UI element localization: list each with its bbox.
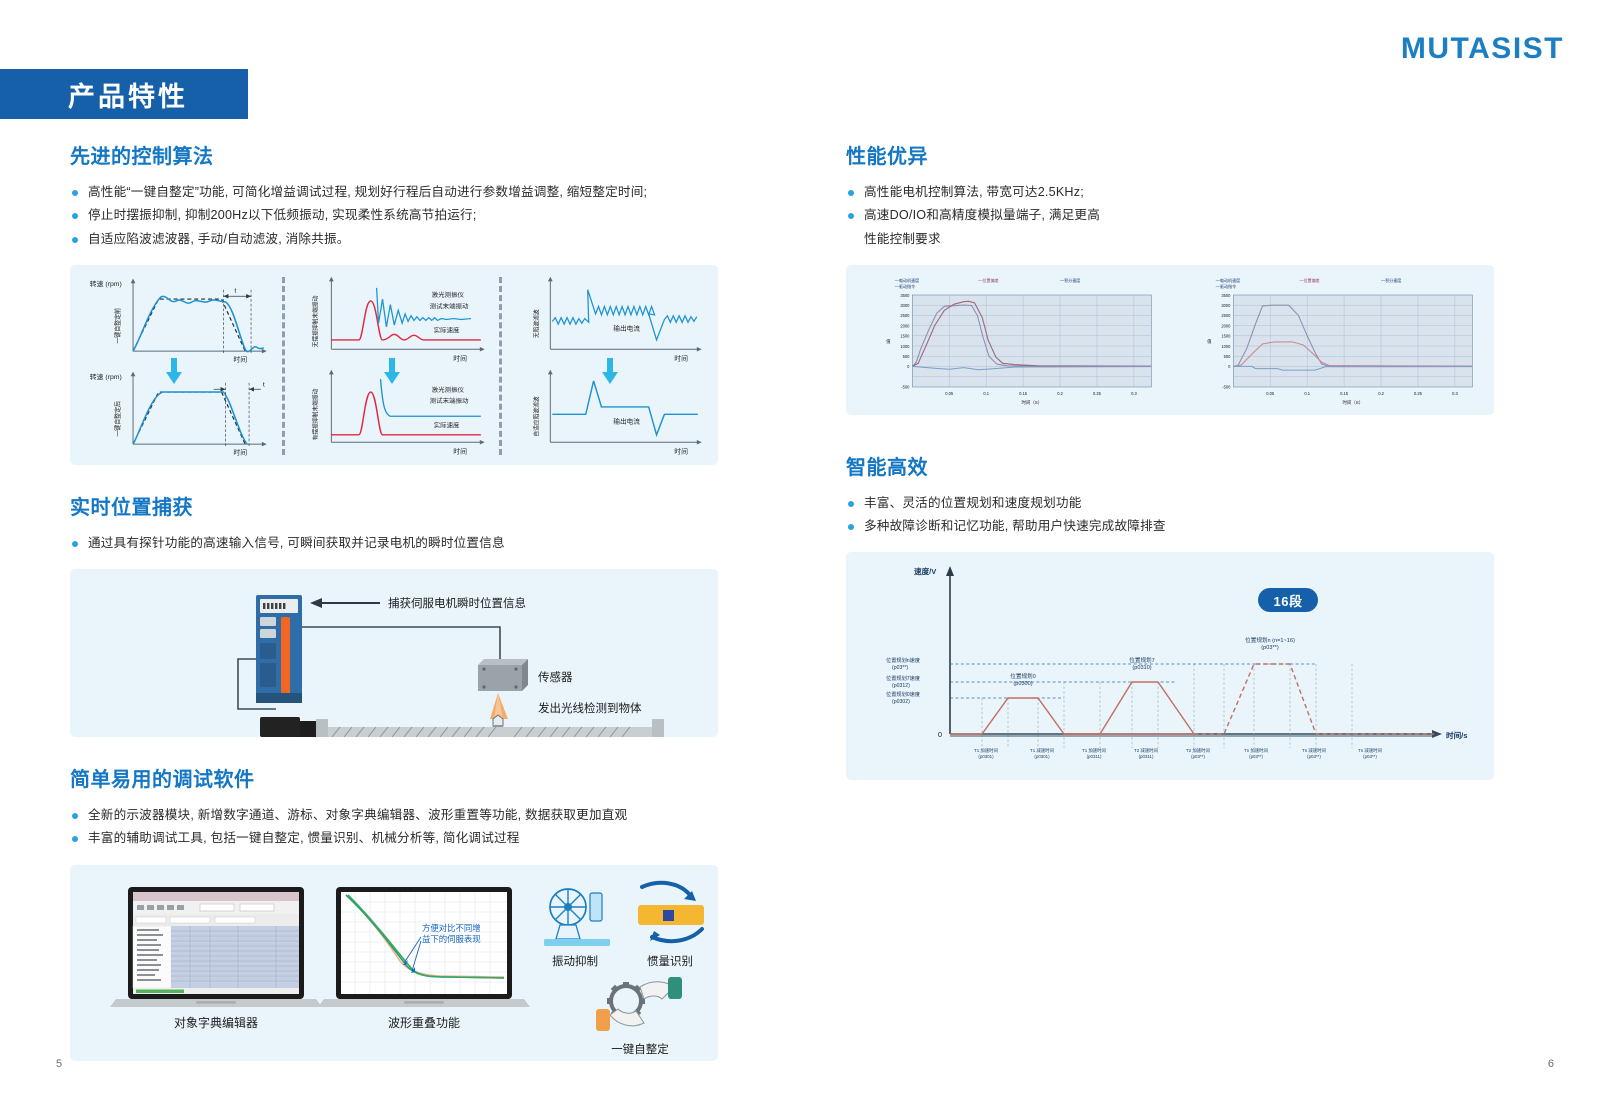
bullets-advanced-control-algorithm: 高性能“一键自整定”功能, 可简化增益调试过程, 规划好行程后自动进行参数增益调… bbox=[70, 181, 718, 251]
svg-text:0.25: 0.25 bbox=[1093, 391, 1102, 396]
chart-notch-before: 输出电流 时间 无陷波滤波 bbox=[511, 273, 708, 366]
chart-autotune-after: 转速 (rpm) bbox=[76, 366, 273, 459]
svg-text:(p0311): (p0311) bbox=[1139, 754, 1154, 759]
svg-text:—位置偏差: —位置偏差 bbox=[978, 277, 998, 283]
algo-panel-vibration: 激光测振仪 测试末端振动 实际速度 时间 无摆振抑制末端振动 bbox=[294, 273, 491, 459]
svg-text:时间（S）: 时间（S） bbox=[1342, 399, 1363, 406]
laptop-caption-1: 对象字典编辑器 bbox=[174, 1015, 258, 1030]
annotation-segment-n-line2: (p03**) bbox=[1261, 645, 1279, 651]
svg-text:0.3: 0.3 bbox=[1131, 391, 1137, 396]
list-item: 高性能“一键自整定”功能, 可简化增益调试过程, 规划好行程后自动进行参数增益调… bbox=[70, 181, 718, 204]
banner-title: 产品特性 bbox=[68, 75, 188, 114]
svg-text:500: 500 bbox=[1224, 354, 1231, 359]
one-key-autotune-icon bbox=[596, 977, 682, 1031]
axis-xlabel-time: 时间/s bbox=[1446, 730, 1468, 740]
list-item: 高速DO/IO和高精度模拟量端子, 满足更高 bbox=[846, 204, 1494, 227]
svg-text:-500: -500 bbox=[1222, 384, 1231, 389]
svg-text:0.15: 0.15 bbox=[1340, 391, 1349, 396]
svg-text:0: 0 bbox=[907, 364, 910, 369]
svg-text:0.25: 0.25 bbox=[1414, 391, 1423, 396]
icon-label-inertia: 惯量识别 bbox=[647, 954, 693, 968]
figure-debug-software: 对象字典编辑器 方便对比不同增 bbox=[70, 865, 718, 1061]
svg-text:3500: 3500 bbox=[1221, 293, 1231, 298]
svg-text:0.05: 0.05 bbox=[1266, 391, 1275, 396]
svg-text:3000: 3000 bbox=[900, 303, 910, 308]
svg-text:位置规划7速度: 位置规划7速度 bbox=[886, 674, 920, 682]
svg-text:(p0302): (p0302) bbox=[892, 699, 910, 705]
svg-text:Tn 减速时间: Tn 减速时间 bbox=[1358, 747, 1382, 754]
svg-text:0.3: 0.3 bbox=[1452, 391, 1458, 396]
svg-text:—电动机速度: —电动机速度 bbox=[895, 277, 919, 283]
axis-ylabel-text: 转速 (rpm) bbox=[90, 279, 122, 288]
svg-text:一键自整定后: 一键自整定后 bbox=[113, 401, 121, 437]
callout-capture-text: 捕获伺服电机瞬时位置信息 bbox=[388, 596, 526, 610]
list-item: 丰富、灵活的位置规划和速度规划功能 bbox=[846, 492, 1494, 515]
figure-segment-planning: 16段 速度/V 时间/s 0 位置规划n速度(p0 bbox=[846, 552, 1494, 780]
svg-text:T2 加速时间: T2 加速时间 bbox=[1186, 747, 1210, 754]
chart-vibration-before: 激光测振仪 测试末端振动 实际速度 时间 无摆振抑制末端振动 bbox=[294, 273, 491, 366]
svg-text:时间: 时间 bbox=[453, 447, 467, 456]
svg-text:(p0312): (p0312) bbox=[892, 683, 910, 689]
svg-text:500: 500 bbox=[903, 354, 910, 359]
brand-logo: MUTASIST bbox=[1401, 32, 1564, 66]
divider-dashed bbox=[499, 277, 502, 455]
svg-text:时间: 时间 bbox=[453, 354, 467, 363]
laptop-caption-2: 波形重叠功能 bbox=[388, 1016, 460, 1030]
svg-text:3500: 3500 bbox=[900, 293, 910, 298]
annotation-segment-7-line1: 位置规划7 bbox=[1129, 656, 1155, 664]
screen-annotation-line2: 益下的伺服表现 bbox=[422, 934, 481, 944]
svg-text:自适应陷波滤波: 自适应陷波滤波 bbox=[533, 396, 541, 436]
algo-panel-autotune: 转速 (rpm) t bbox=[76, 273, 273, 459]
svg-text:1500: 1500 bbox=[900, 333, 910, 338]
svg-text:(p0301): (p0301) bbox=[978, 754, 994, 759]
svg-text:位置规划n速度: 位置规划n速度 bbox=[886, 656, 920, 664]
chart-vibration-after: 激光测振仪 测试末端振动 实际速度 时间 有摆振抑制末端振动 bbox=[294, 366, 491, 459]
svg-text:值: 值 bbox=[886, 338, 891, 345]
svg-text:t: t bbox=[234, 288, 236, 295]
svg-text:T1 减速时间: T1 减速时间 bbox=[1030, 747, 1054, 754]
svg-text:(p0301): (p0301) bbox=[1034, 754, 1050, 759]
svg-text:0.05: 0.05 bbox=[945, 391, 954, 396]
label-beam-text: 发出光线检测到物体 bbox=[538, 701, 642, 715]
figure-position-capture: 捕获伺服电机瞬时位置信息 传感器 发出光线检测到物体 bbox=[70, 569, 718, 737]
bullets-smart-efficient: 丰富、灵活的位置规划和速度规划功能 多种故障诊断和记忆功能, 帮助用户快速完成故… bbox=[846, 492, 1494, 539]
svg-text:1000: 1000 bbox=[1221, 344, 1231, 349]
heading-easy-debug-software: 简单易用的调试软件 bbox=[70, 763, 718, 792]
icon-label-autotune: 一键自整定 bbox=[611, 1042, 669, 1056]
svg-text:2000: 2000 bbox=[1221, 323, 1231, 328]
svg-text:2500: 2500 bbox=[1221, 313, 1231, 318]
bullets-excellent-performance: 高性能电机控制算法, 带宽可达2.5KHz; 高速DO/IO和高精度模拟量端子,… bbox=[846, 181, 1494, 251]
svg-text:3000: 3000 bbox=[1221, 303, 1231, 308]
annotation-segment-7-line2: (p0310) bbox=[1132, 665, 1151, 671]
svg-text:时间（S）: 时间（S） bbox=[1021, 399, 1042, 406]
vibration-suppression-icon bbox=[544, 889, 610, 946]
svg-text:T2 减速时间: T2 减速时间 bbox=[1134, 747, 1158, 754]
svg-text:0.2: 0.2 bbox=[1057, 391, 1063, 396]
list-item: 停止时摆振抑制, 抑制200Hz以下低频振动, 实现柔性系统高节拍运行; bbox=[70, 204, 718, 227]
svg-text:-500: -500 bbox=[901, 384, 910, 389]
svg-text:0.15: 0.15 bbox=[1019, 391, 1028, 396]
svg-text:t: t bbox=[263, 381, 265, 388]
svg-text:值: 值 bbox=[1207, 338, 1212, 345]
svg-text:2000: 2000 bbox=[900, 323, 910, 328]
list-item: 全新的示波器模块, 新增数字通道、游标、对象字典编辑器、波形重置等功能, 数据获… bbox=[70, 804, 718, 827]
list-item-continuation: 性能控制要求 bbox=[846, 228, 1494, 251]
axis-zero-label: 0 bbox=[938, 730, 942, 739]
svg-text:时间: 时间 bbox=[233, 354, 247, 363]
chart-autotune-before: 转速 (rpm) t bbox=[76, 273, 273, 366]
svg-text:—驱动指令: —驱动指令 bbox=[895, 283, 915, 289]
svg-text:测试末端振动: 测试末端振动 bbox=[429, 396, 468, 405]
svg-text:—驱动指令: —驱动指令 bbox=[1216, 283, 1236, 289]
svg-text:无陷波滤波: 无陷波滤波 bbox=[533, 309, 541, 338]
annotation-segment-n-line1: 位置规划n (n=1~16) bbox=[1245, 636, 1295, 644]
page-number-left: 5 bbox=[56, 1058, 62, 1070]
heading-smart-efficient: 智能高效 bbox=[846, 451, 1494, 480]
svg-text:—电动机速度: —电动机速度 bbox=[1216, 277, 1240, 283]
svg-text:时间: 时间 bbox=[675, 354, 689, 363]
svg-text:—位置偏差: —位置偏差 bbox=[1299, 277, 1319, 283]
svg-text:T1 加速时间: T1 加速时间 bbox=[974, 747, 998, 754]
svg-text:激光测振仪: 激光测振仪 bbox=[431, 290, 464, 299]
figure-performance-charts: —电动机速度 —驱动指令 —位置偏差 —积分速度 bbox=[846, 265, 1494, 415]
svg-text:(p0311): (p0311) bbox=[1087, 754, 1102, 759]
list-item: 丰富的辅助调试工具, 包括一键自整定, 惯量识别、机械分析等, 简化调试过程 bbox=[70, 827, 718, 850]
heading-realtime-position-capture: 实时位置捕获 bbox=[70, 491, 718, 520]
svg-text:时间: 时间 bbox=[675, 447, 689, 456]
svg-text:激光测振仪: 激光测振仪 bbox=[431, 385, 464, 394]
list-item: 自适应陷波滤波器, 手动/自动滤波, 消除共振。 bbox=[70, 228, 718, 251]
svg-text:Tn 减速时间: Tn 减速时间 bbox=[1302, 747, 1326, 754]
svg-text:—积分速度: —积分速度 bbox=[1060, 277, 1080, 283]
svg-text:Tn 加速时间: Tn 加速时间 bbox=[1244, 747, 1268, 754]
chart-perf-right: —电动机速度 —驱动指令 —位置偏差 —积分速度 3500300 bbox=[1175, 273, 1486, 407]
svg-text:0: 0 bbox=[1228, 364, 1231, 369]
svg-text:—积分速度: —积分速度 bbox=[1381, 277, 1401, 283]
figure-control-algorithm: 转速 (rpm) t bbox=[70, 265, 718, 465]
svg-text:有摆振抑制末端振动: 有摆振抑制末端振动 bbox=[311, 388, 319, 440]
divider-dashed bbox=[282, 277, 285, 455]
list-item: 通过具有探针功能的高速输入信号, 可瞬间获取并记录电机的瞬时位置信息 bbox=[70, 532, 718, 555]
axis-ylabel-speed: 速度/V bbox=[914, 566, 937, 576]
svg-text:实际速度: 实际速度 bbox=[433, 420, 460, 429]
algo-panel-notch: 输出电流 时间 无陷波滤波 bbox=[511, 273, 708, 459]
svg-text:1500: 1500 bbox=[1221, 333, 1231, 338]
laptop-waveform-overlay: 方便对比不同增 益下的伺服表现 bbox=[318, 887, 530, 1007]
chart-perf-left: —电动机速度 —驱动指令 —位置偏差 —积分速度 bbox=[854, 273, 1165, 407]
svg-text:0.1: 0.1 bbox=[1304, 391, 1310, 396]
section-banner: 产品特性 bbox=[0, 69, 248, 119]
svg-text:实际速度: 实际速度 bbox=[433, 326, 460, 335]
annotation-segment-0-line2: (p0300) bbox=[1013, 681, 1032, 687]
annotation-segment-0-line1: 位置规划0 bbox=[1010, 672, 1036, 680]
list-item: 高性能电机控制算法, 带宽可达2.5KHz; bbox=[846, 181, 1494, 204]
screen-annotation-line1: 方便对比不同增 bbox=[422, 923, 481, 933]
icon-label-vibration: 振动抑制 bbox=[552, 954, 598, 968]
chart-notch-after: 输出电流 时间 自适应陷波滤波 bbox=[511, 366, 708, 459]
svg-text:T1 加速时间: T1 加速时间 bbox=[1082, 747, 1106, 754]
svg-text:0.2: 0.2 bbox=[1378, 391, 1384, 396]
bullets-easy-debug-software: 全新的示波器模块, 新增数字通道、游标、对象字典编辑器、波形重置等功能, 数据获… bbox=[70, 804, 718, 851]
svg-text:一键自整定前: 一键自整定前 bbox=[113, 308, 121, 344]
inertia-identification-icon bbox=[638, 883, 704, 941]
svg-text:2500: 2500 bbox=[900, 313, 910, 318]
svg-text:测试末端振动: 测试末端振动 bbox=[429, 301, 468, 310]
svg-text:位置规划0速度: 位置规划0速度 bbox=[886, 690, 920, 698]
left-column: 先进的控制算法 高性能“一键自整定”功能, 可简化增益调试过程, 规划好行程后自… bbox=[70, 140, 718, 1061]
svg-text:输出电流: 输出电流 bbox=[614, 324, 641, 333]
svg-text:0.1: 0.1 bbox=[983, 391, 989, 396]
svg-text:输出电流: 输出电流 bbox=[614, 417, 641, 426]
heading-excellent-performance: 性能优异 bbox=[846, 140, 1494, 169]
svg-text:(p03**): (p03**) bbox=[1249, 754, 1263, 759]
svg-text:(p03**): (p03**) bbox=[1191, 754, 1205, 759]
svg-text:转速 (rpm): 转速 (rpm) bbox=[90, 372, 122, 381]
right-column: 性能优异 高性能电机控制算法, 带宽可达2.5KHz; 高速DO/IO和高精度模… bbox=[846, 140, 1494, 780]
bullets-realtime-position-capture: 通过具有探针功能的高速输入信号, 可瞬间获取并记录电机的瞬时位置信息 bbox=[70, 532, 718, 555]
heading-advanced-control-algorithm: 先进的控制算法 bbox=[70, 140, 718, 169]
segment-count-badge: 16段 bbox=[1258, 588, 1318, 612]
list-item: 多种故障诊断和记忆功能, 帮助用户快速完成故障排查 bbox=[846, 515, 1494, 538]
svg-text:时间: 时间 bbox=[233, 447, 247, 456]
sensor-body bbox=[478, 659, 528, 691]
svg-text:1000: 1000 bbox=[900, 344, 910, 349]
svg-text:(p03**): (p03**) bbox=[1363, 754, 1377, 759]
brochure-page: MUTASIST 产品特性 先进的控制算法 高性能“一键自整定”功能, 可简化增… bbox=[0, 0, 1610, 1100]
laptop-object-dictionary bbox=[110, 887, 322, 1007]
svg-text:(p03**): (p03**) bbox=[1307, 754, 1321, 759]
label-sensor-text: 传感器 bbox=[538, 670, 573, 684]
svg-text:无摆振抑制末端振动: 无摆振抑制末端振动 bbox=[311, 295, 319, 347]
page-number-right: 6 bbox=[1548, 1058, 1554, 1070]
svg-text:(p03**): (p03**) bbox=[892, 665, 908, 671]
